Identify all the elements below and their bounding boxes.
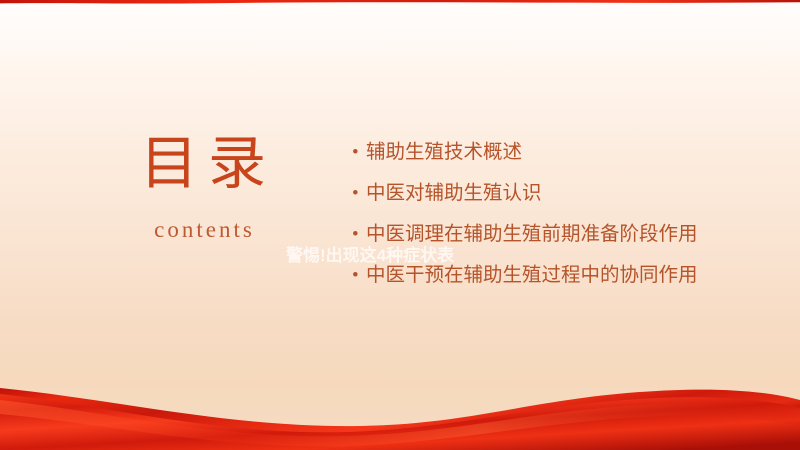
list-item[interactable]: • 辅助生殖技术概述 — [352, 136, 732, 169]
page-title: 目录 — [78, 134, 328, 195]
list-item-label: 中医对辅助生殖认识 — [366, 177, 732, 210]
list-item[interactable]: • 中医干预在辅助生殖过程中的协同作用 — [352, 259, 732, 292]
list-item[interactable]: • 中医调理在辅助生殖前期准备阶段作用 — [352, 218, 732, 251]
toc-list: • 辅助生殖技术概述 • 中医对辅助生殖认识 • 中医调理在辅助生殖前期准备阶段… — [352, 136, 732, 300]
bullet-dot-icon: • — [352, 218, 366, 251]
bullet-dot-icon: • — [352, 136, 366, 169]
list-item-label: 中医调理在辅助生殖前期准备阶段作用 — [366, 218, 732, 251]
list-item-label: 辅助生殖技术概述 — [366, 136, 732, 169]
top-ribbon-decoration — [0, 0, 800, 4]
bullet-dot-icon: • — [352, 177, 366, 210]
slide-canvas: 目录 contents • 辅助生殖技术概述 • 中医对辅助生殖认识 • 中医调… — [0, 0, 800, 450]
list-item-label: 中医干预在辅助生殖过程中的协同作用 — [366, 259, 732, 292]
list-item[interactable]: • 中医对辅助生殖认识 — [352, 177, 732, 210]
page-subtitle: contents — [78, 217, 328, 243]
toc-title-block: 目录 contents — [78, 134, 328, 243]
bullet-dot-icon: • — [352, 259, 366, 292]
bottom-ribbon-decoration — [0, 370, 800, 450]
